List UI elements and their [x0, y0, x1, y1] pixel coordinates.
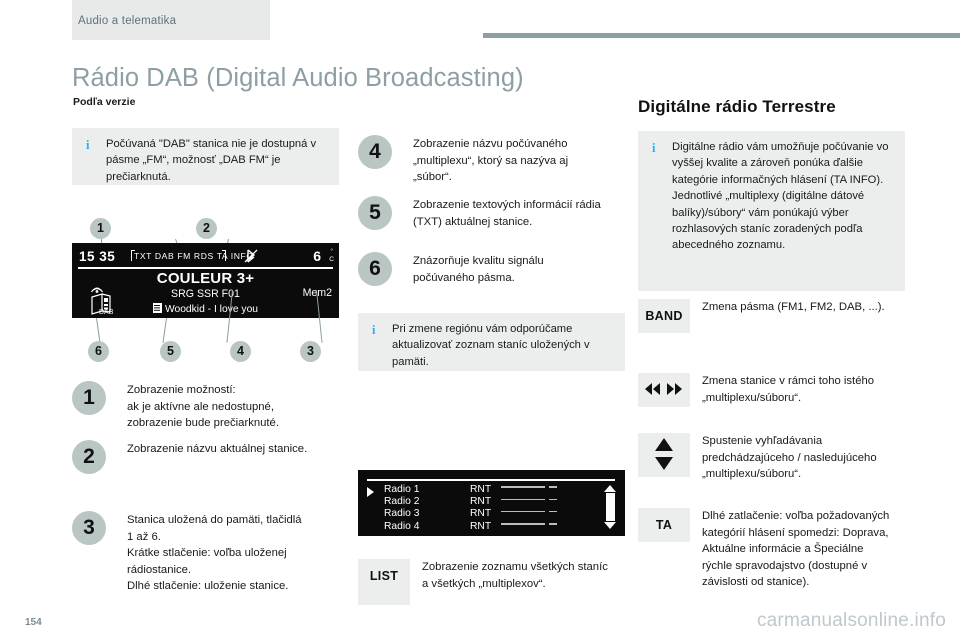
- list-item-name: Radio 2: [384, 496, 470, 507]
- screen-divider: [78, 267, 333, 269]
- info-icon: i: [372, 324, 375, 337]
- scroll-down-icon[interactable]: [604, 522, 616, 529]
- bullet-text-2: Zobrazenie názvu aktuálnej stanice.: [127, 441, 307, 458]
- callout-2: 2: [196, 218, 217, 239]
- svg-text:DAB: DAB: [99, 309, 114, 315]
- scrollbar-thumb[interactable]: [606, 493, 615, 521]
- ta-button[interactable]: TA: [638, 508, 690, 542]
- radio-display-screen: 15 35 TXT DAB FM RDS TA INFO 6 ° C COULE…: [72, 243, 339, 318]
- station-list-rows: Radio 1RNT Radio 2RNT Radio 3RNT Radio 4…: [384, 484, 563, 533]
- middle-info-note-text: Pri zmene regiónu vám odporúčame aktuali…: [392, 321, 617, 370]
- bullet-text-3: Stanica uložená do pamäti, tlačidlá 1 až…: [127, 512, 302, 595]
- scrollbar[interactable]: [604, 485, 617, 529]
- bullet-text-5: Zobrazenie textových informácií rádia (T…: [413, 197, 601, 230]
- page-header: Audio a telematika: [0, 0, 960, 46]
- list-item-code: RNT: [470, 484, 501, 495]
- flags-bracket-right: [222, 250, 226, 261]
- left-info-note: i Počúvaná "DAB" stanica nie je dostupná…: [72, 128, 339, 185]
- bullet-number-4: 4: [358, 135, 392, 169]
- list-screen-divider: [367, 479, 615, 481]
- note-list-icon: [153, 303, 162, 313]
- leader-line-6: [96, 318, 100, 343]
- screen-radio-text: Woodkid - I love you: [165, 304, 258, 315]
- page-title: Rádio DAB (Digital Audio Broadcasting): [72, 64, 524, 93]
- station-list-screen: Radio 1RNT Radio 2RNT Radio 3RNT Radio 4…: [358, 470, 625, 536]
- signal-bars-icon: [501, 494, 563, 505]
- signal-bars-icon: [501, 506, 563, 517]
- middle-info-note: i Pri zmene regiónu vám odporúčame aktua…: [358, 313, 625, 371]
- list-button[interactable]: LIST: [358, 559, 410, 593]
- cursor-arrow-icon: [367, 487, 374, 497]
- page-number: 154: [25, 617, 42, 628]
- screen-flags: TXT DAB FM RDS TA INFO: [134, 251, 254, 261]
- signal-bars-icon: [501, 519, 563, 530]
- info-icon: i: [86, 139, 89, 152]
- screen-temperature-unit: ° C: [329, 248, 334, 264]
- degree-symbol: °: [329, 248, 334, 256]
- celsius-symbol: C: [329, 256, 334, 264]
- bullet-text-1: Zobrazenie možností: ak je aktívne ale n…: [127, 382, 279, 432]
- callout-3: 3: [300, 341, 321, 362]
- list-item-code: RNT: [470, 521, 501, 532]
- bullet-number-1: 1: [72, 381, 106, 415]
- page-subtitle: Podľa verzie: [73, 96, 135, 108]
- right-info-note: i Digitálne rádio vám umožňuje počúvanie…: [638, 131, 905, 291]
- screen-clock: 15 35: [79, 249, 115, 264]
- key-text-band: Zmena pásma (FM1, FM2, DAB, ...).: [702, 299, 885, 316]
- key-text-prev-next: Zmena stanice v rámci toho istého „multi…: [702, 373, 874, 406]
- callout-4: 4: [230, 341, 251, 362]
- list-item-name: Radio 1: [384, 484, 470, 495]
- prev-next-track-icon: [643, 382, 685, 399]
- bluetooth-disabled-icon: [244, 248, 258, 264]
- section-heading-digital-radio: Digitálne rádio Terrestre: [638, 97, 836, 117]
- footer-decorative-strip: [358, 593, 410, 605]
- scroll-up-icon[interactable]: [604, 485, 616, 492]
- signal-bars-icon: [501, 482, 563, 493]
- list-item-code: RNT: [470, 496, 501, 507]
- callout-5: 5: [160, 341, 181, 362]
- bullet-number-3: 3: [72, 511, 106, 545]
- bullet-text-4: Zobrazenie názvu počúvaného „multiplexu“…: [413, 136, 568, 186]
- callout-1: 1: [90, 218, 111, 239]
- prev-next-track-button[interactable]: [638, 373, 690, 407]
- key-text-up-down: Spustenie vyhľadávania predchádzajúceho …: [702, 433, 877, 483]
- callout-6: 6: [88, 341, 109, 362]
- leader-line-5: [163, 318, 167, 343]
- band-button[interactable]: BAND: [638, 299, 690, 333]
- bullet-number-5: 5: [358, 196, 392, 230]
- list-item-name: Radio 3: [384, 508, 470, 519]
- header-divider-rule: [483, 33, 960, 38]
- bullet-number-2: 2: [72, 440, 106, 474]
- key-text-ta: Dlhé zatlačenie: voľba požadovaných kate…: [702, 508, 889, 591]
- dab-signal-icon: DAB: [88, 281, 132, 315]
- bullet-text-6: Znázorňuje kvalitu signálu počúvaného pá…: [413, 253, 544, 286]
- list-item[interactable]: Radio 4RNT: [384, 521, 563, 533]
- info-icon: i: [652, 142, 655, 155]
- screen-temperature: 6: [313, 248, 321, 264]
- right-info-note-text: Digitálne rádio vám umožňuje počúvanie v…: [672, 139, 897, 254]
- left-info-note-text: Počúvaná "DAB" stanica nie je dostupná v…: [106, 136, 331, 185]
- list-item-name: Radio 4: [384, 521, 470, 532]
- up-down-seek-icon: [653, 435, 675, 476]
- breadcrumb: Audio a telematika: [78, 15, 176, 27]
- list-item-code: RNT: [470, 508, 501, 519]
- watermark: carmanualsonline.info: [757, 610, 946, 632]
- key-text-list: Zobrazenie zoznamu všetkých staníc a vše…: [422, 559, 608, 592]
- bullet-number-6: 6: [358, 252, 392, 286]
- up-down-seek-button[interactable]: [638, 433, 690, 477]
